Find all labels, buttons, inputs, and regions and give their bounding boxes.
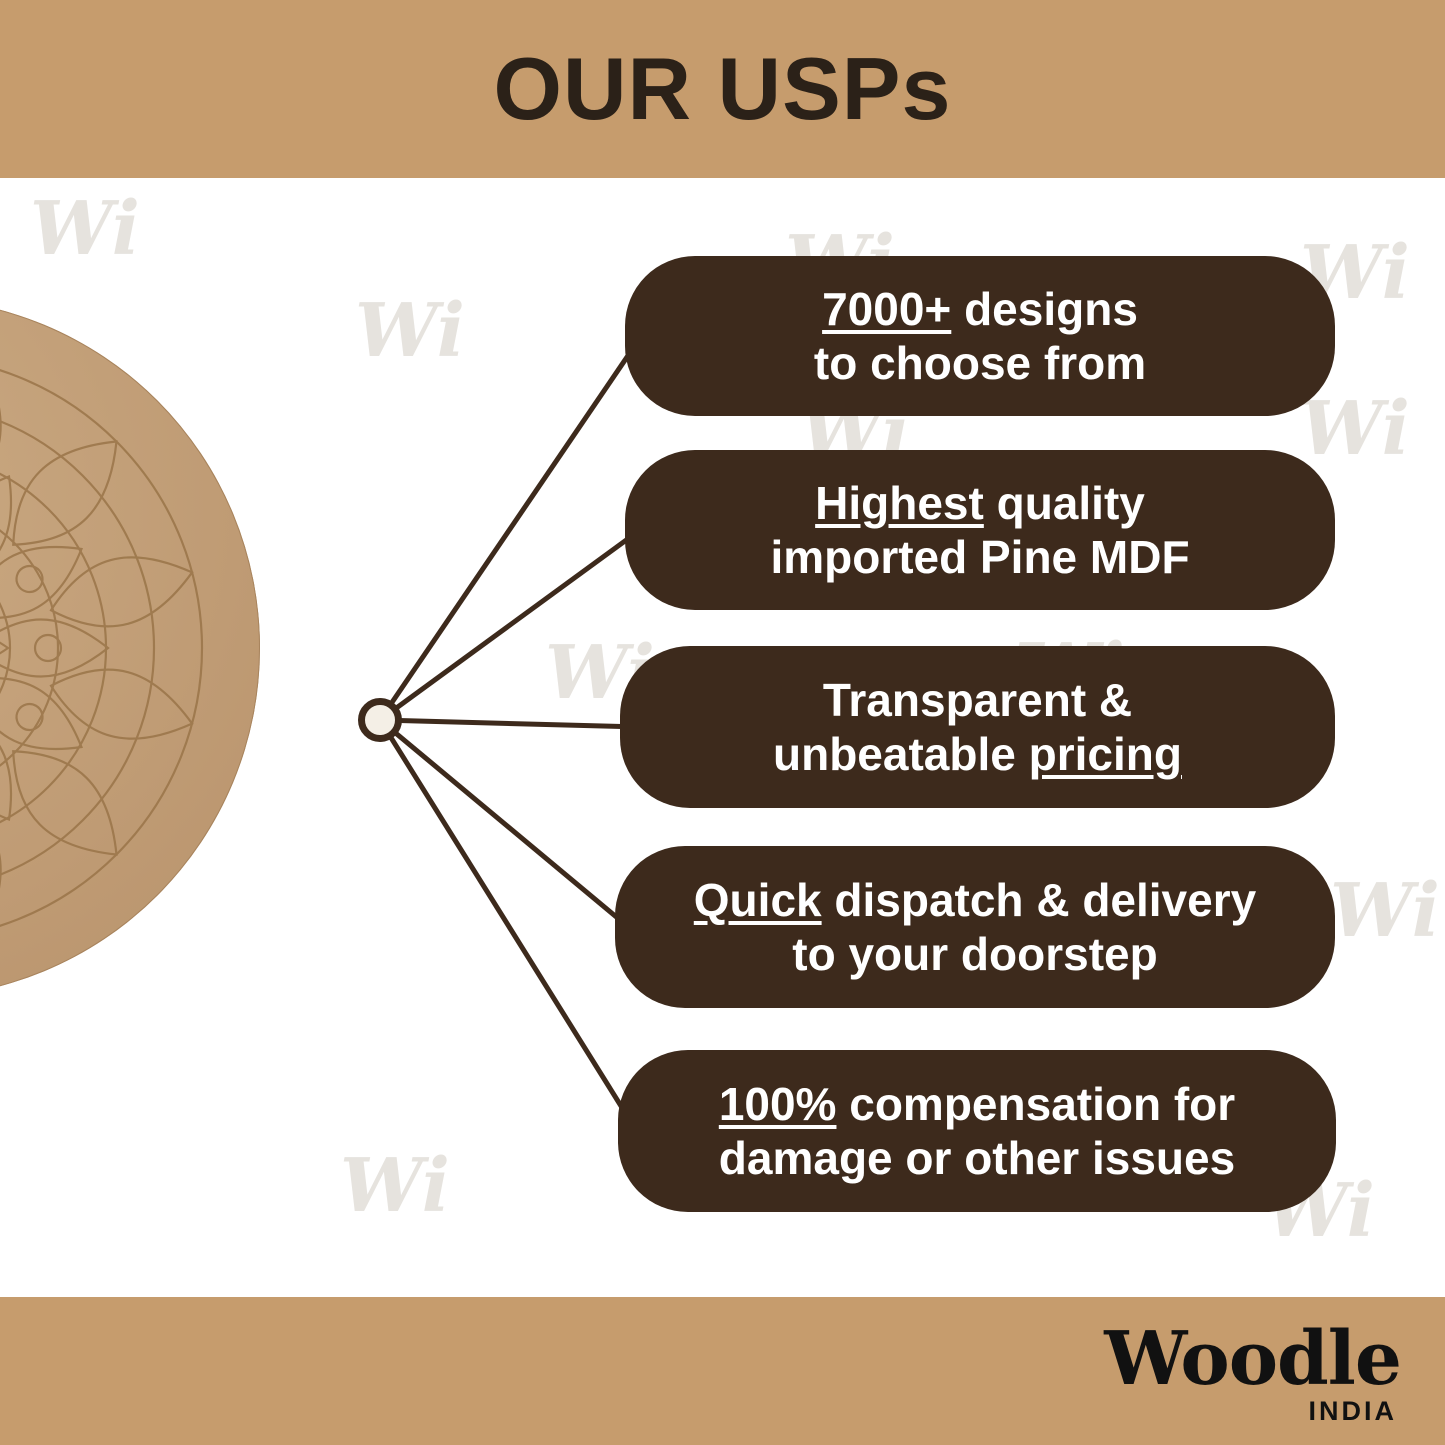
usp-text: dispatch & delivery [822, 874, 1257, 926]
usp-line-1: 7000+ designs [822, 282, 1138, 336]
usp-card-designs: 7000+ designs to choose from [625, 256, 1335, 416]
watermark-logo: Wi [30, 186, 140, 272]
usp-line-1: Highest quality [815, 476, 1145, 530]
usp-text: unbeatable [773, 728, 1029, 780]
usp-line-1: 100% compensation for [719, 1077, 1235, 1131]
poster-root: OUR USPs Wi Wi Wi Wi Wi Wi Wi Wi Wi Wi W… [0, 0, 1445, 1445]
usp-line-2: damage or other issues [719, 1131, 1235, 1185]
usp-line-2: unbeatable pricing [773, 727, 1182, 781]
mandala-disc [0, 298, 260, 998]
usp-card-compensation: 100% compensation for damage or other is… [618, 1050, 1336, 1212]
usp-highlight: Highest [815, 477, 984, 529]
usp-card-quality: Highest quality imported Pine MDF [625, 450, 1335, 610]
usp-line-1: Transparent & [823, 673, 1132, 727]
usp-highlight: Quick [694, 874, 822, 926]
usp-card-pricing: Transparent & unbeatable pricing [620, 646, 1335, 808]
usp-highlight: 7000+ [822, 283, 951, 335]
usp-text: quality [984, 477, 1145, 529]
usp-line-2: to choose from [814, 336, 1146, 390]
usp-text: compensation for [836, 1078, 1235, 1130]
usp-card-dispatch: Quick dispatch & delivery to your doorst… [615, 846, 1335, 1008]
watermark-logo: Wi [1300, 386, 1410, 472]
brand-name: Woodle [1104, 1324, 1401, 1394]
usp-line-1: Quick dispatch & delivery [694, 873, 1256, 927]
mandala-engraving [0, 298, 260, 998]
hub-node [358, 698, 402, 742]
usp-line-2: to your doorstep [792, 927, 1157, 981]
usp-line-2: imported Pine MDF [770, 530, 1189, 584]
product-image [0, 298, 440, 1218]
page-title: OUR USPs [0, 0, 1445, 178]
usp-highlight: 100% [719, 1078, 837, 1130]
diagram-area: Wi Wi Wi Wi Wi Wi Wi Wi Wi Wi Wi [0, 178, 1445, 1297]
usp-text: designs [951, 283, 1138, 335]
usp-highlight: pricing [1029, 728, 1182, 780]
watermark-logo: Wi [1330, 868, 1440, 954]
brand-logo: Woodle INDIA [1104, 1324, 1401, 1427]
